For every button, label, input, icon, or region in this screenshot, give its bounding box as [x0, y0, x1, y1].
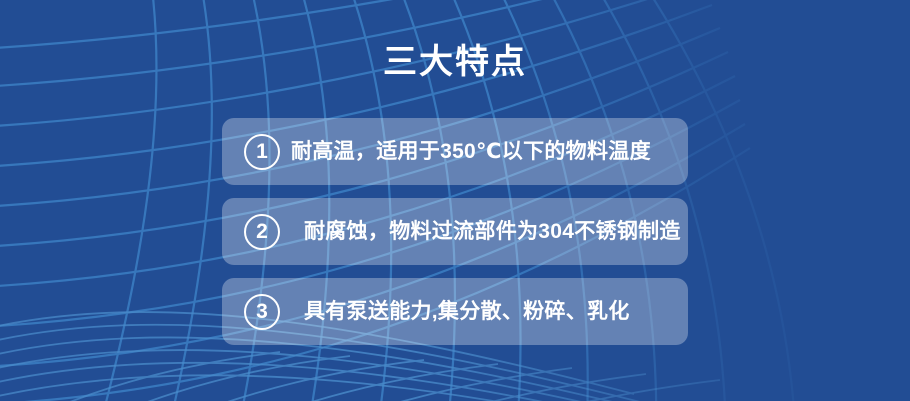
feature-row[interactable]: 2 耐腐蚀，物料过流部件为304不锈钢制造 [222, 198, 688, 265]
features-list: 1 耐高温，适用于350℃以下的物料温度 2 耐腐蚀，物料过流部件为304不锈钢… [222, 118, 688, 345]
feature-text: 具有泵送能力,集分散、粉碎、乳化 [304, 298, 630, 326]
feature-number-badge: 3 [244, 294, 280, 330]
feature-number-badge: 2 [244, 214, 280, 250]
page-title: 三大特点 [0, 40, 910, 84]
feature-text: 耐腐蚀，物料过流部件为304不锈钢制造 [304, 218, 681, 246]
feature-number-badge: 1 [244, 134, 280, 170]
feature-row[interactable]: 1 耐高温，适用于350℃以下的物料温度 [222, 118, 688, 185]
feature-slide: 三大特点 1 耐高温，适用于350℃以下的物料温度 2 耐腐蚀，物料过流部件为3… [0, 0, 910, 401]
feature-row[interactable]: 3 具有泵送能力,集分散、粉碎、乳化 [222, 278, 688, 345]
feature-text: 耐高温，适用于350℃以下的物料温度 [291, 138, 651, 166]
